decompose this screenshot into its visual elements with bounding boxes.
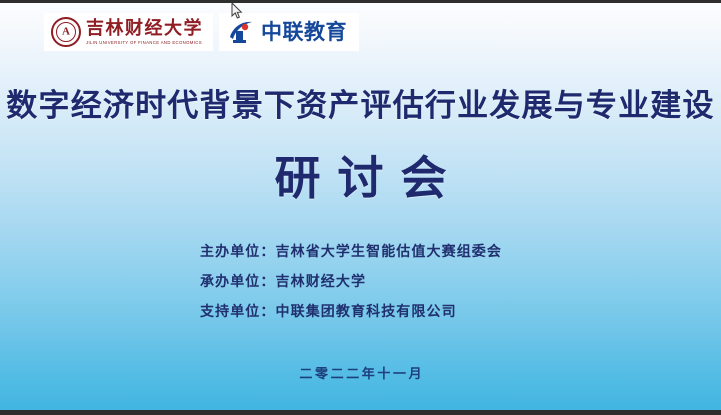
university-logo: 吉林财经大学 JILIN UNIVERSITY OF FINANCE AND E… — [44, 13, 213, 51]
slide-headline: 数字经济时代背景下资产评估行业发展与专业建设 — [0, 80, 721, 125]
slide-subject: 研讨会 — [0, 142, 721, 208]
logo-band: 吉林财经大学 JILIN UNIVERSITY OF FINANCE AND E… — [44, 13, 359, 51]
university-seal-icon — [51, 17, 81, 47]
zhonglian-swoosh-icon — [227, 18, 255, 46]
university-name-en: JILIN UNIVERSITY OF FINANCE AND ECONOMIC… — [86, 40, 205, 45]
corporate-name-cn: 中联教育 — [261, 22, 347, 43]
presentation-slide: 吉林财经大学 JILIN UNIVERSITY OF FINANCE AND E… — [0, 0, 721, 415]
credit-line-host: 承办单位：吉林财经大学 — [200, 268, 502, 298]
credit-line-organizer: 主办单位：吉林省大学生智能估值大赛组委会 — [200, 238, 502, 268]
university-logo-text: 吉林财经大学 JILIN UNIVERSITY OF FINANCE AND E… — [86, 19, 203, 45]
letterbox-bar-bottom — [0, 410, 721, 415]
credit-line-supporter: 支持单位：中联集团教育科技有限公司 — [200, 298, 502, 328]
mouse-cursor-icon — [231, 2, 243, 20]
slide-date: 二零二二年十一月 — [0, 363, 721, 382]
university-name-cn: 吉林财经大学 — [86, 19, 203, 38]
letterbox-bar-top — [0, 0, 721, 3]
credits-block: 主办单位：吉林省大学生智能估值大赛组委会 承办单位：吉林财经大学 支持单位：中联… — [200, 238, 502, 328]
